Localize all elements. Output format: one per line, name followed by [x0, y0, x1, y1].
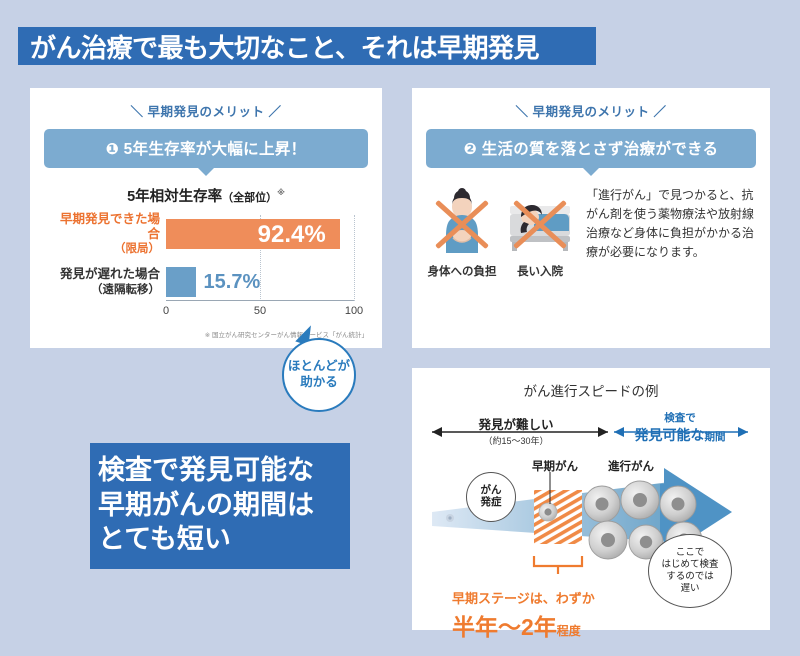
card-progression-speed: がん進行スピードの例 発見が難しい （約15〜30年） 検査で 発見可能な期間 [412, 368, 770, 630]
bar-row-late: 発見が遅れた場合 （遠隔転移） 15.7% [166, 267, 354, 297]
tick-50: 50 [254, 305, 266, 317]
callout-line2: 助かる [300, 375, 338, 391]
early-stage-duration-suffix: 程度 [557, 624, 581, 638]
chart-title-mark: ※ [277, 188, 285, 197]
cross-mark-icon [504, 186, 576, 258]
survival-bar-chart: 早期発見できた場合 （限局） 92.4% 発見が遅れた場合 （遠隔転移） 15.… [46, 215, 366, 323]
callout-most-survive: ほとんどが 助かる [282, 338, 356, 412]
bar-value-late: 15.7% [204, 271, 261, 294]
icon-block-hospitalization: 長い入院 [504, 186, 576, 279]
card2-merit-label: ＼ 早期発見のメリット ／ [412, 101, 770, 120]
bottom-headline-line2: 早期がんの期間は [98, 488, 350, 523]
bar-value-early: 92.4% [258, 221, 326, 249]
arrow-label-hard-to-detect: 発見が難しい （約15〜30年） [428, 414, 604, 447]
too-late-line2: はじめて検査 [661, 559, 718, 571]
arrow-right-line2-main: 発見可能な [635, 427, 705, 443]
label-advanced-cancer: 進行がん [608, 458, 654, 474]
callout-line1: ほとんどが [288, 359, 350, 375]
bar-label-early-line2: （限局） [54, 242, 160, 256]
chart-title-main: 5年相対生存率 [127, 189, 222, 205]
card1-banner: ❶ 5年生存率が大幅に上昇！ [44, 129, 368, 168]
too-late-line4: 遅い [680, 583, 699, 595]
arrow-left-line2: （約15〜30年） [428, 434, 604, 447]
bar-label-early-line1: 早期発見できた場合 [54, 212, 160, 243]
card3-title: がん進行スピードの例 [412, 380, 770, 400]
early-stage-duration: 早期ステージは、わずか 半年〜2年程度 [452, 588, 595, 642]
gridline-100 [354, 215, 355, 301]
callout-cancer-onset: がん 発症 [466, 472, 516, 522]
callout-too-late: ここで はじめて検査 するのでは 遅い [648, 534, 732, 608]
onset-line2: 発症 [481, 497, 502, 509]
bar-label-late: 発見が遅れた場合 （遠隔転移） [54, 267, 166, 296]
card-survival-rate: ＼ 早期発見のメリット ／ ❶ 5年生存率が大幅に上昇！ 5年相対生存率（全部位… [30, 88, 382, 348]
early-stage-duration-line1: 早期ステージは、わずか [452, 588, 595, 607]
bar-late [166, 267, 196, 297]
icon-caption-body-burden: 身体への負担 [426, 263, 498, 279]
card3-arrow-row: 発見が難しい （約15〜30年） 検査で 発見可能な期間 [412, 410, 770, 454]
icon-caption-hospitalization: 長い入院 [504, 263, 576, 279]
body-burden-icon [426, 186, 498, 258]
arrow-right-line2: 発見可能な期間 [620, 425, 740, 445]
card3-figure: 早期がん 進行がん がん 発症 ここで はじめて検査 するのでは 遅い [412, 456, 770, 574]
bottom-headline-line3: とても短い [98, 522, 350, 557]
card2-description: 「進行がん」で見つかると、抗がん剤を使う薬物療法や放射線治療など身体に負担がかか… [586, 186, 756, 279]
bar-label-late-line2: （遠隔転移） [54, 283, 160, 297]
early-stage-duration-line2: 半年〜2年程度 [452, 608, 595, 642]
tick-100: 100 [345, 305, 363, 317]
bottom-headline-line1: 検査で発見可能な [98, 453, 350, 488]
icon-block-body-burden: 身体への負担 [426, 186, 498, 279]
arrow-label-detectable-period: 検査で 発見可能な期間 [620, 410, 740, 445]
chart-plot-area: 早期発見できた場合 （限局） 92.4% 発見が遅れた場合 （遠隔転移） 15.… [166, 215, 354, 301]
card2-body: 身体への負担 [426, 186, 756, 279]
bar-label-early: 早期発見できた場合 （限局） [54, 212, 166, 257]
arrow-right-line2-small: 期間 [705, 431, 726, 443]
arrow-left-line1: 発見が難しい [428, 414, 604, 433]
too-late-line3: するのでは [666, 571, 714, 583]
page-title: がん治療で最も大切なこと、それは早期発見 [18, 27, 596, 65]
early-stage-duration-value: 半年〜2年 [452, 614, 557, 640]
infographic-page: がん治療で最も大切なこと、それは早期発見 ＼ 早期発見のメリット ／ ❶ 5年生… [0, 0, 800, 656]
card-quality-of-life: ＼ 早期発見のメリット ／ ❷ 生活の質を落とさず治療ができる [412, 88, 770, 348]
chart-ticks: 0 50 100 [166, 303, 354, 323]
card2-banner: ❷ 生活の質を落とさず治療ができる [426, 129, 756, 168]
arrow-right-line1: 検査で [620, 410, 740, 425]
label-early-cancer: 早期がん [532, 458, 578, 474]
bar-row-early: 早期発見できた場合 （限局） 92.4% [166, 219, 354, 249]
bar-label-late-line1: 発見が遅れた場合 [54, 267, 160, 282]
too-late-line1: ここで [676, 547, 705, 559]
card2-banner-tip [582, 167, 600, 176]
long-hospitalization-icon [504, 186, 576, 258]
tick-0: 0 [163, 305, 169, 317]
card1-merit-label: ＼ 早期発見のメリット ／ [30, 101, 382, 120]
bar-early: 92.4% [166, 219, 340, 249]
chart-title: 5年相対生存率（全部位）※ [30, 185, 382, 206]
card2-banner-wrap: ❷ 生活の質を落とさず治療ができる [426, 129, 756, 168]
chart-axis [166, 300, 354, 301]
cross-mark-icon [426, 186, 498, 258]
card1-banner-wrap: ❶ 5年生存率が大幅に上昇！ [44, 129, 368, 168]
card1-banner-tip [197, 167, 215, 176]
card2-icon-group: 身体への負担 [426, 186, 576, 279]
bottom-headline: 検査で発見可能な 早期がんの期間は とても短い [90, 443, 350, 569]
chart-title-sub: （全部位） [222, 192, 277, 204]
